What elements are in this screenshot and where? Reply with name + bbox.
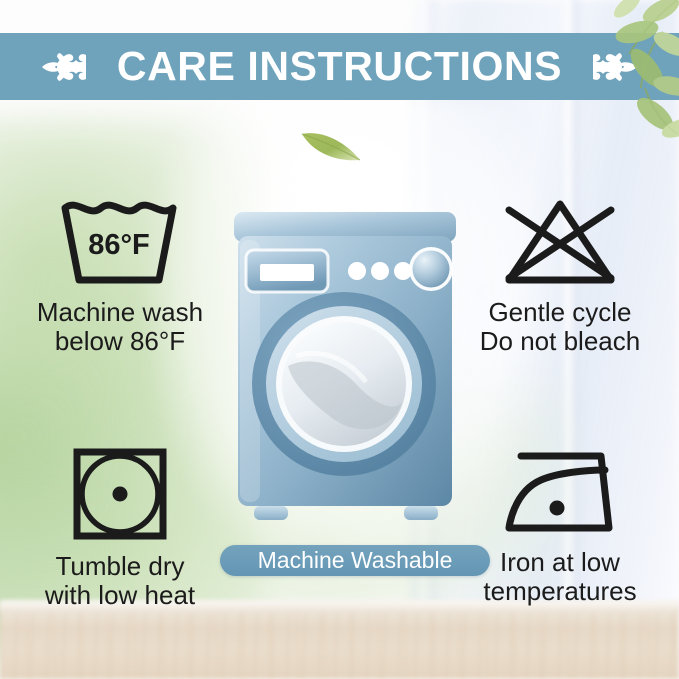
care-symbol-machine-wash: 86°F Machine wash below 86°F bbox=[12, 196, 228, 356]
care-symbol-label: Tumble dry with low heat bbox=[45, 552, 195, 610]
care-symbol-do-not-bleach: Gentle cycle Do not bleach bbox=[452, 196, 668, 356]
washing-machine-illustration bbox=[224, 206, 466, 536]
badge-label: Machine Washable bbox=[258, 549, 453, 572]
care-symbol-label: Iron at low temperatures bbox=[483, 548, 636, 606]
tumble-dry-low-icon bbox=[69, 446, 171, 542]
wash-temperature-value: 86°F bbox=[88, 229, 150, 261]
leafy-branch-icon bbox=[545, 0, 679, 152]
wash-tub-icon: 86°F bbox=[55, 196, 185, 288]
machine-foot bbox=[404, 506, 438, 520]
control-dot bbox=[371, 262, 389, 280]
program-knob bbox=[413, 251, 450, 288]
care-instructions-infographic: CARE INSTRUCTIONS bbox=[0, 0, 679, 679]
care-symbol-iron: Iron at low temperatures bbox=[452, 446, 668, 606]
background-table-grain bbox=[0, 609, 679, 679]
fleur-de-lis-icon-left bbox=[39, 44, 95, 90]
page-title: CARE INSTRUCTIONS bbox=[117, 46, 562, 87]
care-symbol-label: Gentle cycle Do not bleach bbox=[480, 298, 640, 356]
no-bleach-triangle-icon bbox=[495, 196, 625, 288]
floating-leaf-icon bbox=[296, 120, 366, 170]
care-symbol-label: Machine wash below 86°F bbox=[37, 298, 203, 356]
control-dot bbox=[348, 262, 366, 280]
care-symbol-tumble-dry: Tumble dry with low heat bbox=[12, 446, 228, 610]
machine-foot bbox=[254, 506, 288, 520]
machine-washable-badge: Machine Washable bbox=[220, 545, 490, 576]
iron-low-heat-icon bbox=[497, 446, 623, 538]
